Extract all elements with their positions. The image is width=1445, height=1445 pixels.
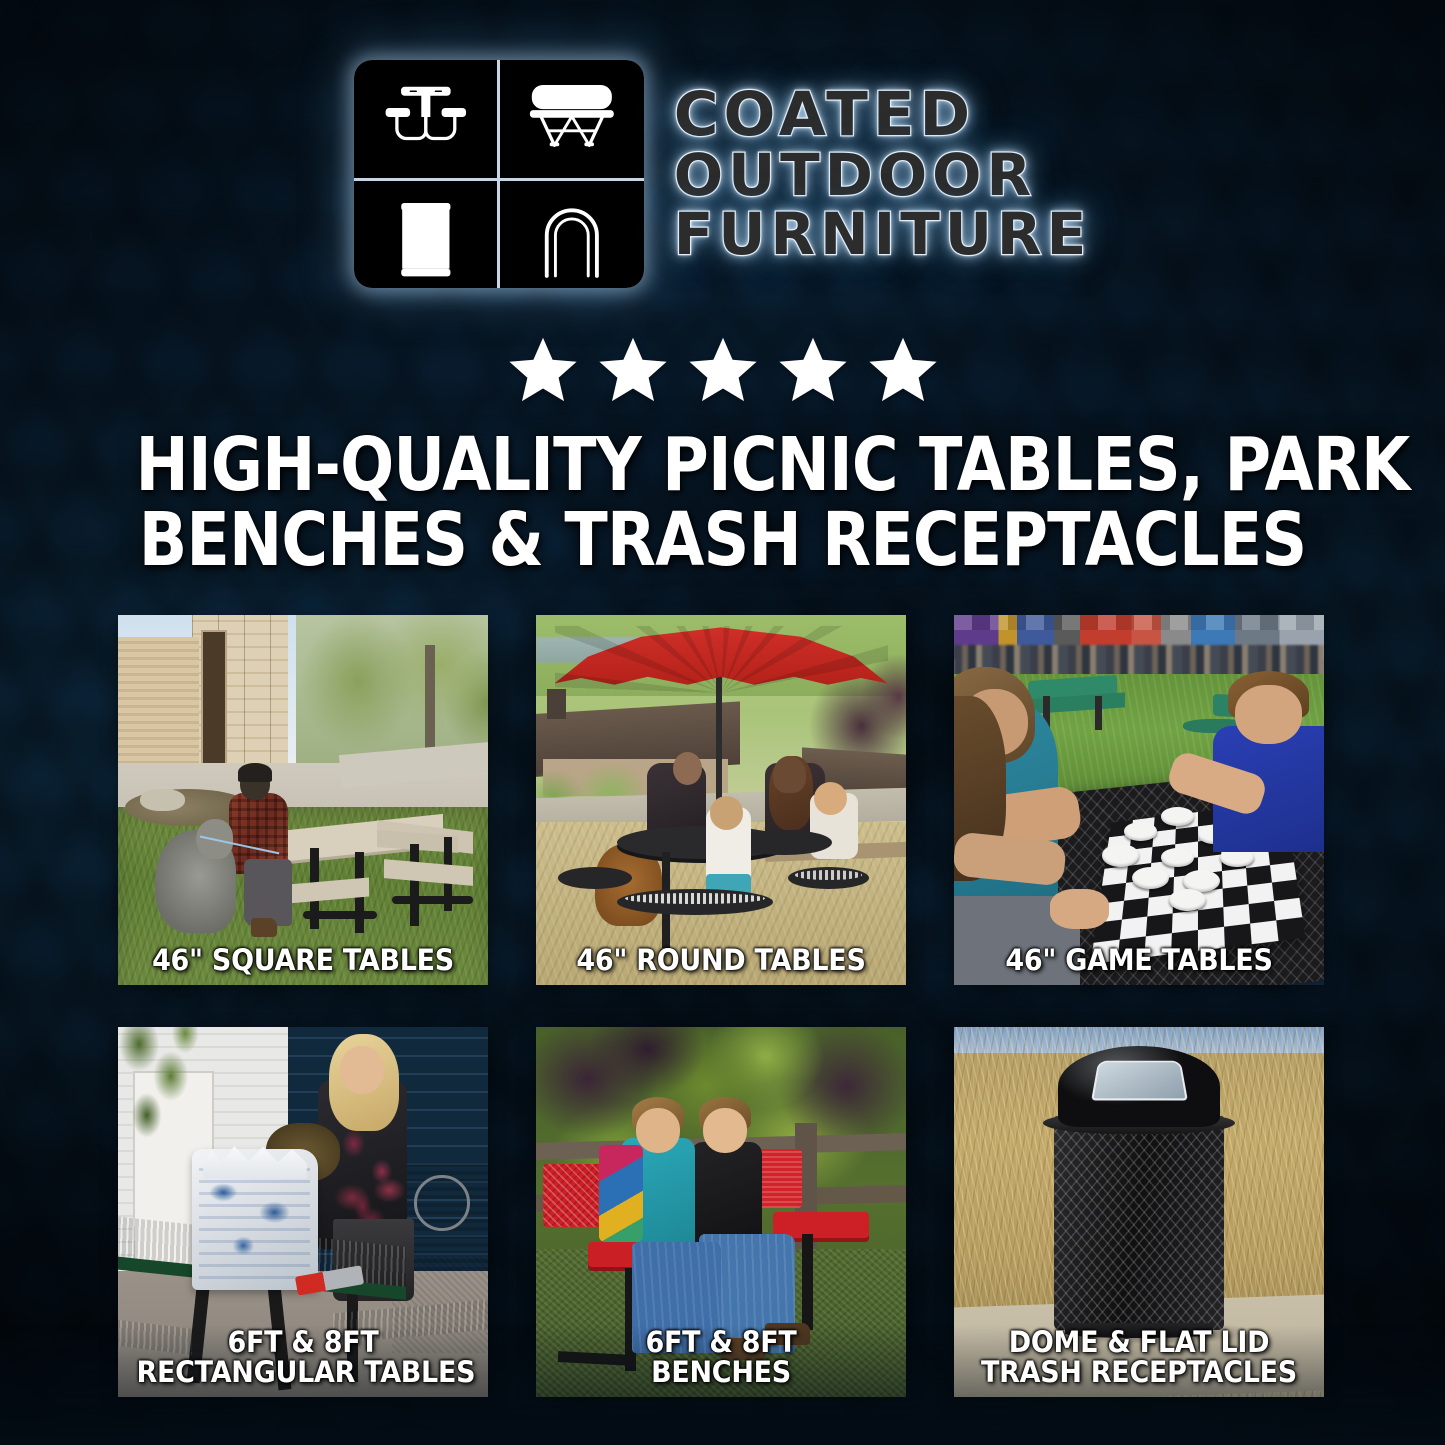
brand-name-line-2: OUTDOOR	[674, 147, 1091, 204]
caption-line-2: BENCHES	[555, 1357, 888, 1387]
brand-name-line-3: FURNITURE	[674, 206, 1091, 263]
picnic-table-front-icon	[354, 60, 498, 178]
product-tile-round-tables[interactable]: 46" ROUND TABLES	[536, 615, 906, 985]
product-caption: 46" SQUARE TABLES	[137, 945, 470, 975]
bike-rack-arch-icon	[500, 181, 644, 288]
star-icon	[777, 333, 849, 405]
product-tile-trash-receptacles[interactable]: DOME & FLAT LID TRASH RECEPTACLES	[954, 1027, 1324, 1397]
star-icon	[597, 333, 669, 405]
product-caption: 46" ROUND TABLES	[555, 945, 888, 975]
bench-table-side-icon	[500, 60, 644, 178]
star-icon	[687, 333, 759, 405]
caption-line-1: 6FT & 8FT	[137, 1327, 470, 1357]
caption-line-1: 46" GAME TABLES	[973, 945, 1306, 975]
trash-receptacle-icon	[354, 181, 498, 288]
brand-logo: COATED OUTDOOR FURNITURE	[0, 60, 1445, 288]
product-tile-game-tables[interactable]: 46" GAME TABLES	[954, 615, 1324, 985]
caption-line-1: 46" SQUARE TABLES	[137, 945, 470, 975]
caption-line-1: 6FT & 8FT	[555, 1327, 888, 1357]
poster-content: COATED OUTDOOR FURNITURE HIGH-QUALITY PI…	[0, 0, 1445, 1445]
product-caption: 46" GAME TABLES	[973, 945, 1306, 975]
headline-line-2: BENCHES & TRASH RECEPTACLES	[136, 503, 1310, 578]
brand-wordmark: COATED OUTDOOR FURNITURE	[674, 85, 1091, 262]
star-icon	[867, 333, 939, 405]
photo-round-tables	[536, 615, 906, 985]
caption-line-1: 46" ROUND TABLES	[555, 945, 888, 975]
page-title: HIGH-QUALITY PICNIC TABLES, PARK BENCHES…	[101, 428, 1344, 579]
logo-icon-grid	[354, 60, 644, 288]
caption-line-2: TRASH RECEPTACLES	[973, 1357, 1306, 1387]
photo-square-tables	[118, 615, 488, 985]
product-tile-benches[interactable]: 6FT & 8FT BENCHES	[536, 1027, 906, 1397]
product-caption: DOME & FLAT LID TRASH RECEPTACLES	[973, 1327, 1306, 1387]
brand-name-line-1: COATED	[674, 85, 1091, 145]
photo-game-tables	[954, 615, 1324, 985]
caption-line-2: RECTANGULAR TABLES	[137, 1357, 470, 1387]
product-caption: 6FT & 8FT BENCHES	[555, 1327, 888, 1387]
caption-line-1: DOME & FLAT LID	[973, 1327, 1306, 1357]
product-tile-rectangular-tables[interactable]: 6FT & 8FT RECTANGULAR TABLES	[118, 1027, 488, 1397]
star-icon	[507, 333, 579, 405]
product-tile-square-tables[interactable]: 46" SQUARE TABLES	[118, 615, 488, 985]
headline-line-1: HIGH-QUALITY PICNIC TABLES, PARK	[136, 428, 1310, 503]
star-rating	[0, 333, 1445, 405]
product-caption: 6FT & 8FT RECTANGULAR TABLES	[137, 1327, 470, 1387]
product-grid: 46" SQUARE TABLES	[118, 615, 1333, 1397]
